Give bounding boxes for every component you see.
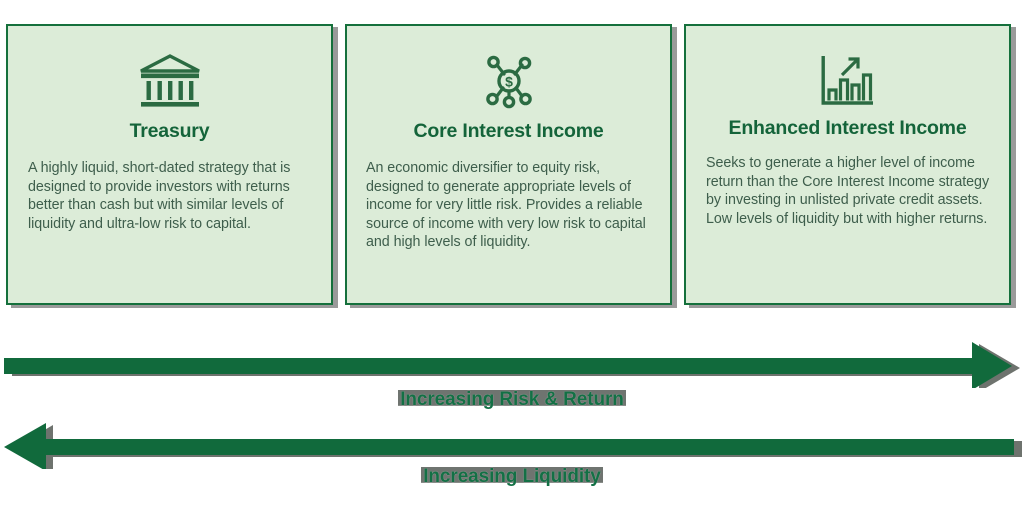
arrow-label: Increasing Risk & Return [0, 389, 1024, 411]
bank-building-icon [8, 48, 331, 114]
card-description: A highly liquid, short-dated strategy th… [28, 159, 315, 233]
card-title: Treasury [14, 119, 325, 143]
arrow-label-text: Increasing Risk & Return [398, 389, 626, 411]
strategy-card-core-interest-income[interactable]: $ Core Interest Income An economic diver… [345, 24, 672, 305]
left-arrow-icon [0, 423, 1024, 469]
bar-chart-growth-arrow-icon [686, 48, 1009, 114]
card-title: Core Interest Income [353, 119, 664, 143]
dollar-network-hub-icon: $ [347, 48, 670, 114]
strategy-card-enhanced-interest-income[interactable]: Enhanced Interest Income Seeks to genera… [684, 24, 1011, 305]
increasing-risk-return-arrow: Increasing Risk & Return [0, 342, 1024, 434]
axis-arrows-section: Increasing Risk & Return Increasing Liqu… [0, 320, 1024, 511]
increasing-liquidity-arrow: Increasing Liquidity [0, 423, 1024, 511]
card-title: Enhanced Interest Income [692, 116, 1003, 140]
card-description: An economic diversifier to equity risk, … [366, 159, 656, 252]
arrow-label: Increasing Liquidity [0, 466, 1024, 488]
strategy-card-treasury[interactable]: Treasury A highly liquid, short-dated st… [6, 24, 333, 305]
right-arrow-icon [0, 342, 1024, 388]
svg-text:$: $ [505, 74, 513, 90]
strategy-cards-row: Treasury A highly liquid, short-dated st… [0, 0, 1024, 320]
card-description: Seeks to generate a higher level of inco… [706, 154, 997, 228]
arrow-label-text: Increasing Liquidity [421, 466, 602, 488]
